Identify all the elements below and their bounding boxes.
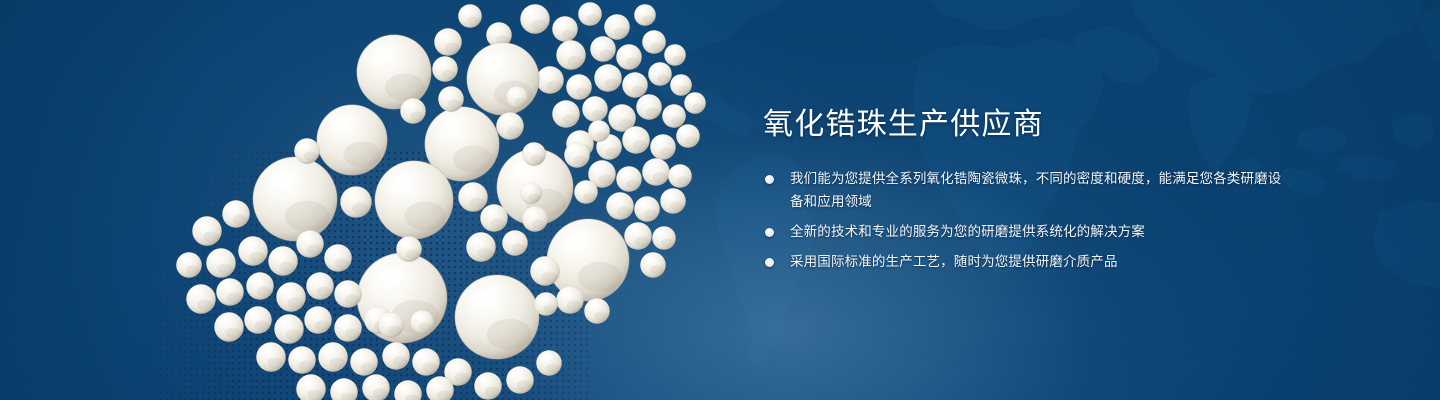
feature-list: 我们能为您提供全系列氧化锆陶瓷微珠，不同的密度和硬度，能满足您各类研磨设备和应用… <box>763 168 1283 274</box>
feature-list-item: 采用国际标准的生产工艺，随时为您提供研磨介质产品 <box>763 251 1283 274</box>
bullet-dot-icon <box>765 228 774 237</box>
banner-headline: 氧化锆珠生产供应商 <box>763 106 1283 144</box>
bullet-dot-icon <box>765 175 774 184</box>
bullet-dot-icon <box>765 258 774 267</box>
hero-banner: 氧化锆珠生产供应商 我们能为您提供全系列氧化锆陶瓷微珠，不同的密度和硬度，能满足… <box>0 0 1440 400</box>
feature-list-item: 全新的技术和专业的服务为您的研磨提供系统化的解决方案 <box>763 221 1283 244</box>
feature-text: 全新的技术和专业的服务为您的研磨提供系统化的解决方案 <box>790 224 1145 240</box>
feature-text: 采用国际标准的生产工艺，随时为您提供研磨介质产品 <box>790 254 1118 270</box>
feature-text: 我们能为您提供全系列氧化锆陶瓷微珠，不同的密度和硬度，能满足您各类研磨设备和应用… <box>790 171 1281 210</box>
feature-list-item: 我们能为您提供全系列氧化锆陶瓷微珠，不同的密度和硬度，能满足您各类研磨设备和应用… <box>763 168 1283 214</box>
banner-copy: 氧化锆珠生产供应商 我们能为您提供全系列氧化锆陶瓷微珠，不同的密度和硬度，能满足… <box>763 106 1283 274</box>
